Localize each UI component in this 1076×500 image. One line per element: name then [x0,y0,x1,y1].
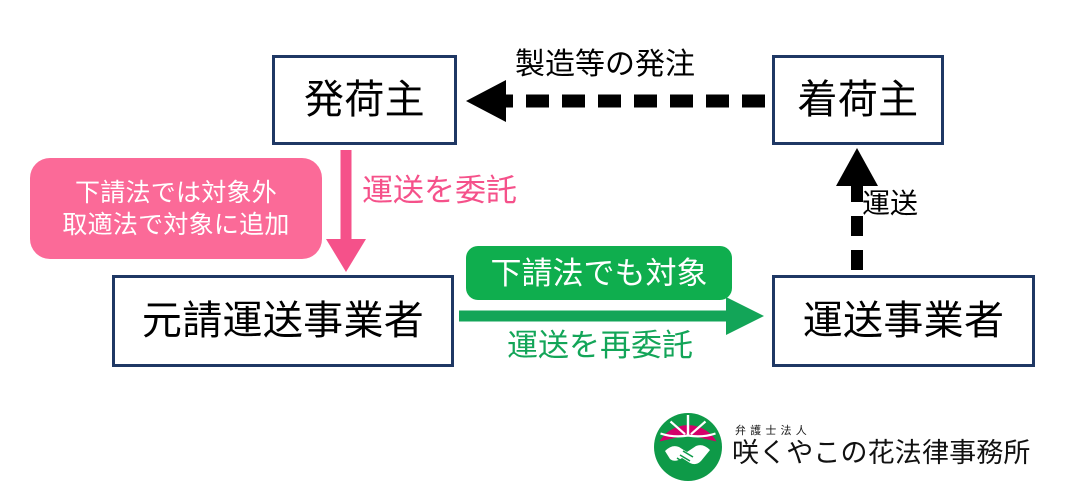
pink-callout-line-2: 取適法で対象に追加 [62,209,289,241]
entity-box-carrier: 運送事業者 [772,275,1035,367]
law-firm-logo: 弁護士法人 咲くやこの花法律事務所 [652,402,1052,492]
flower-handshake-logo-icon [652,411,724,483]
entity-label-carrier: 運送事業者 [803,301,1005,341]
arrow-order-dashed [466,80,765,122]
pink-callout-line-1: 下請法では対象外 [75,177,277,209]
entity-box-shipper: 発荷主 [272,55,457,145]
entity-label-receiver: 着荷主 [798,80,919,120]
entity-box-receiver: 着荷主 [772,55,944,145]
law-firm-kicker: 弁護士法人 [735,425,1031,437]
pink-callout-not-covered: 下請法では対象外 取適法で対象に追加 [30,158,322,259]
entity-label-prime-carrier: 元請運送事業者 [142,301,424,341]
entity-box-prime-carrier: 元請運送事業者 [112,275,454,367]
green-badge-label: 下請法でも対象 [491,258,708,289]
arrow-label-entrust: 運送を委託 [362,175,517,206]
arrow-label-order: 製造等の発注 [515,50,695,80]
arrow-label-transport: 運送 [862,190,918,218]
law-firm-logo-text: 弁護士法人 咲くやこの花法律事務所 [732,425,1031,469]
law-firm-name: 咲くやこの花法律事務所 [732,439,1031,467]
diagram-canvas: 発荷主 着荷主 元請運送事業者 運送事業者 下請法では対象外 取適法で対象に追加… [0,0,1076,500]
arrow-label-reentrust: 運送を再委託 [507,330,693,361]
green-badge-covered: 下請法でも対象 [466,246,732,300]
entity-label-shipper: 発荷主 [304,80,425,120]
arrow-entrust-pink [326,150,366,272]
